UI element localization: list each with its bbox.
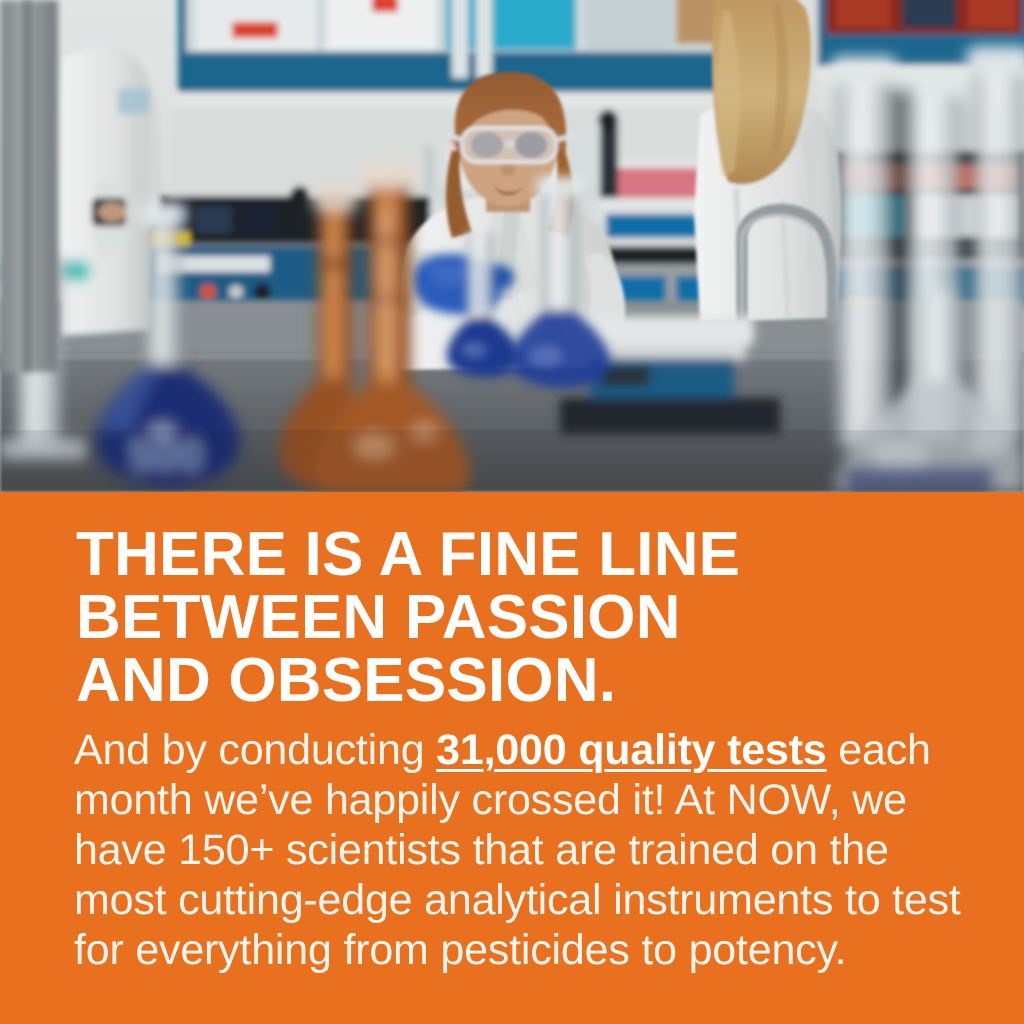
page-headline: THERE IS A FINE LINE BETWEEN PASSION AND…: [76, 523, 956, 712]
lab-photograph: 500: [0, 0, 1024, 492]
lab-photo-illustration: 500: [0, 0, 1024, 492]
body-paragraph: And by conducting 31,000 quality tests e…: [74, 725, 962, 975]
quality-tests-emphasis: 31,000 quality tests: [436, 726, 826, 774]
social-media-card: 500: [0, 0, 1024, 1024]
body-text-before: And by conducting: [74, 726, 436, 774]
orange-message-panel: THERE IS A FINE LINE BETWEEN PASSION AND…: [0, 492, 1024, 1024]
